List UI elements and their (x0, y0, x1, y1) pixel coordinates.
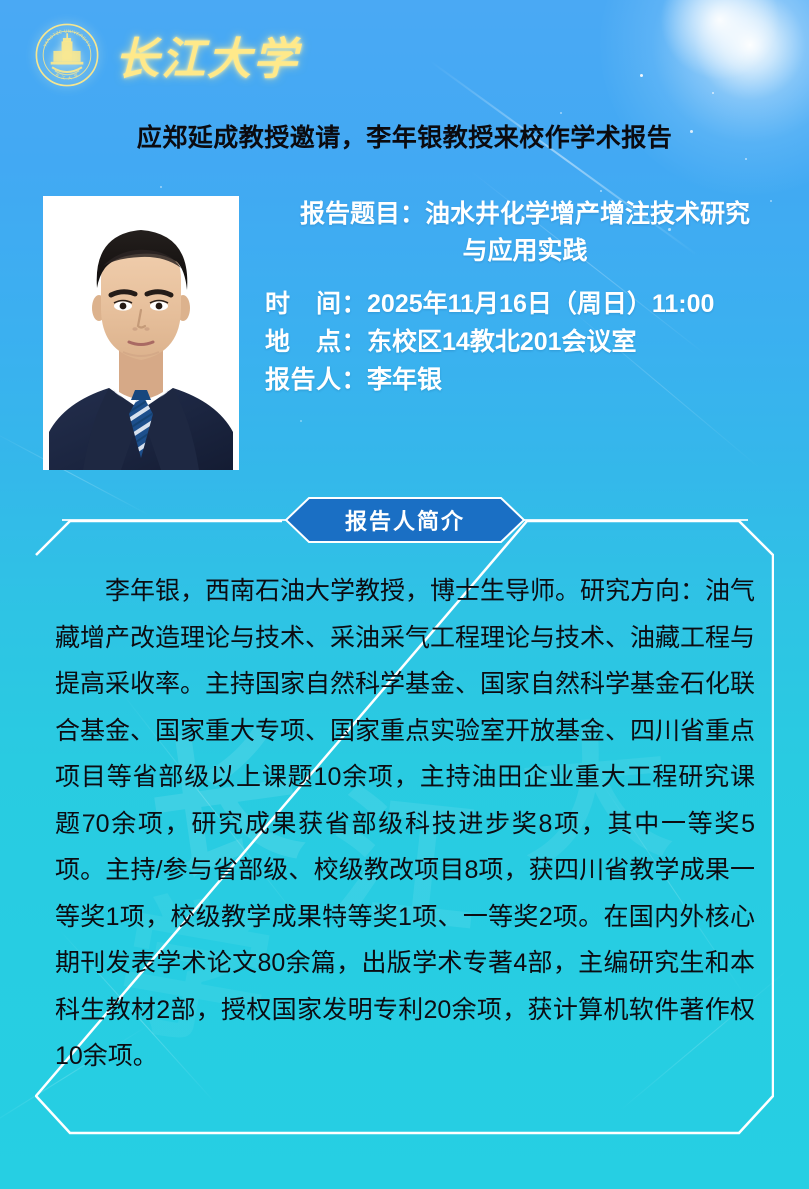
lecture-time-value: 2025年11月16日（周日）11:00 (367, 290, 714, 318)
lecture-speaker-row: 报告人：李年银 (265, 361, 785, 399)
badge-wing-left (62, 519, 286, 521)
lecture-time-row: 时 间：2025年11月16日（周日）11:00 (265, 285, 785, 323)
lecture-topic-line2: 与应用实践 (265, 233, 785, 270)
sparkle (160, 186, 162, 188)
lecture-time-label: 时 间： (265, 290, 367, 318)
lecture-place-label: 地 点： (265, 328, 367, 356)
section-badge-label: 报告人简介 (285, 497, 525, 543)
badge-wing-right (524, 519, 748, 521)
speaker-photo (43, 196, 239, 470)
speaker-bio-panel: 李年银，西南石油大学教授，博士生导师。研究方向：油气藏增产改造理论与技术、采油采… (35, 520, 774, 1135)
section-badge-speaker-bio: 报告人简介 (285, 497, 525, 543)
lecture-topic: 报告题目：油水井化学增产增注技术研究 与应用实践 (265, 196, 785, 269)
lecture-speaker-value: 李年银 (367, 366, 442, 394)
sparkle (745, 158, 747, 160)
lecture-info-block: 报告题目：油水井化学增产增注技术研究 与应用实践 时 间：2025年11月16日… (265, 196, 785, 399)
speaker-bio-text: 李年银，西南石油大学教授，博士生导师。研究方向：油气藏增产改造理论与技术、采油采… (55, 568, 755, 1080)
poster-canvas: 长 江 大 学 YANGTZE UNIVERSITY (0, 0, 809, 1189)
yangtze-university-emblem-icon: YANGTZE UNIVERSITY 长 江 大 学 (33, 21, 101, 89)
sparkle (560, 112, 562, 114)
speaker-portrait-image (43, 196, 239, 470)
lecture-speaker-label: 报告人： (265, 366, 367, 394)
university-logo: YANGTZE UNIVERSITY 长 江 大 学 长江大学 (33, 21, 299, 89)
page-title: 应郑延成教授邀请，李年银教授来校作学术报告 (0, 118, 809, 154)
lecture-topic-line1: 报告题目：油水井化学增产增注技术研究 (265, 196, 785, 233)
university-name-logotype: 长江大学 (115, 23, 299, 87)
lecture-place-value: 东校区14教北201会议室 (367, 328, 637, 356)
poster-header: YANGTZE UNIVERSITY 长 江 大 学 长江大学 (0, 0, 809, 108)
lecture-place-row: 地 点：东校区14教北201会议室 (265, 323, 785, 361)
sparkle (600, 190, 602, 192)
sparkle (300, 420, 302, 422)
